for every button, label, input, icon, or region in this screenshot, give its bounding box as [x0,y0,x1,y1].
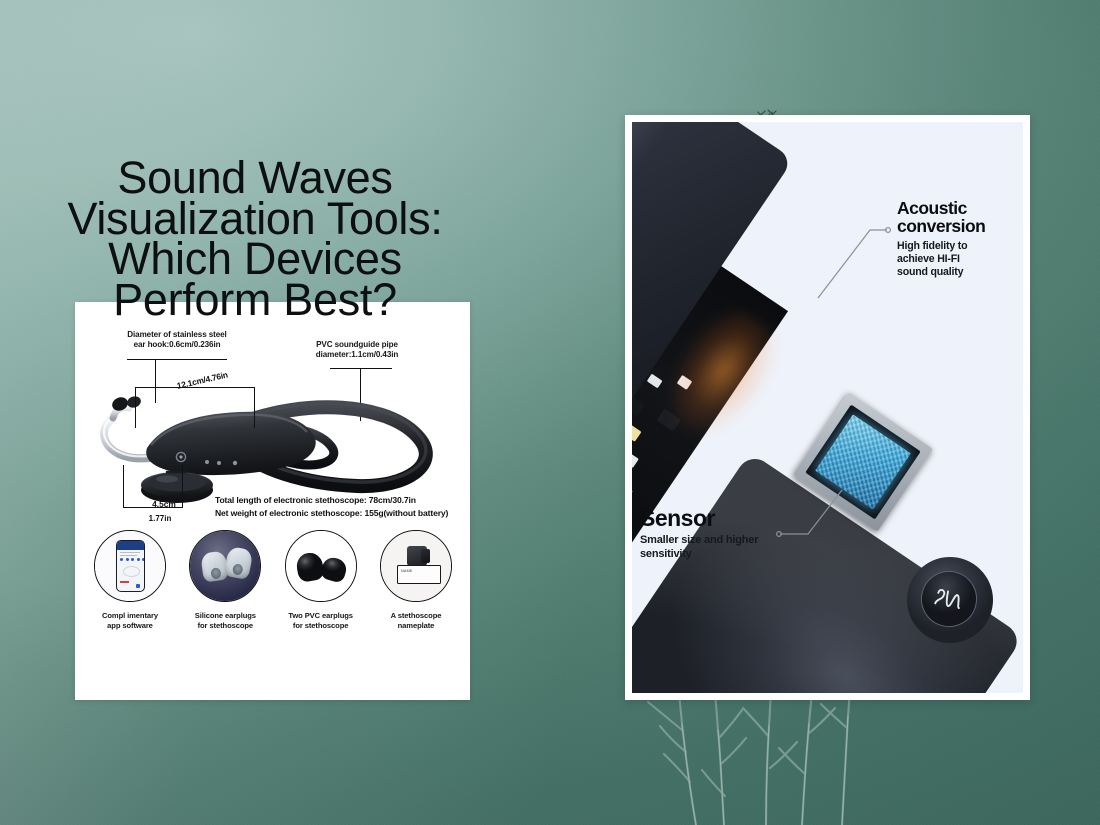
annotation-ear-hook-diameter: Diameter of stainless steel ear hook:0.6… [97,330,257,350]
callout-subtitle: High fidelity to achieve HI-FI sound qua… [897,240,1015,279]
device-internals-photo: Acoustic conversion High fidelity to ach… [632,122,1023,693]
device-internals-photo-card: Acoustic conversion High fidelity to ach… [625,115,1030,700]
accessory-caption: Two PVC earplugs for stethoscope [288,611,353,632]
accessories-row: Compl imentary app software Silicone ear… [87,530,459,632]
sensor-die [815,414,911,510]
accessory-caption: A stethoscope nameplate [391,611,442,632]
spec-totals: Total length of electronic stethoscope: … [215,494,465,521]
product-spec-image: Diameter of stainless steel ear hook:0.6… [75,302,470,700]
callout-acoustic-conversion: Acoustic conversion High fidelity to ach… [897,200,1015,278]
dimension-label-chestpiece-cm: 4.5cm [135,499,193,509]
nameplate-text: NAME [401,569,413,573]
accessory-thumbnail-app [94,530,166,602]
accessory-silicone-earplugs: Silicone earplugs for stethoscope [182,530,268,632]
accessory-thumbnail-nameplate: NAME [380,530,452,602]
callout-title: Sensor [640,507,790,530]
annotation-soundguide-pipe: PVC soundguide pipe diameter:1.1cm/0.43i… [287,340,427,360]
accessory-thumbnail-silicone [189,530,261,602]
callout-subtitle: Smaller size and higher sensitivity [640,534,790,561]
accessory-thumbnail-pvc [285,530,357,602]
accessory-pvc-earplugs: Two PVC earplugs for stethoscope [278,530,364,632]
leader-line-ear-hook-horizontal [127,359,227,360]
total-length-text: Total length of electronic stethoscope: … [215,494,465,507]
slide-title: Sound Waves Visualization Tools: Which D… [55,158,455,320]
callout-title: Acoustic conversion [897,200,1015,236]
accessory-app-software: Compl imentary app software [87,530,173,632]
net-weight-text: Net weight of electronic stethoscope: 15… [215,507,465,520]
presentation-slide: Sound Waves Visualization Tools: Which D… [0,0,1100,825]
power-wave-icon [932,584,967,613]
dimension-label-chestpiece-in: 1.77in [131,514,189,523]
dimension-bracket-body-length [135,387,255,428]
accessory-nameplate: NAME A stethoscope nameplate [373,530,459,632]
photo-watermark: DL [1010,683,1018,689]
accessory-caption: Compl imentary app software [102,611,158,632]
callout-sensor: Sensor Smaller size and higher sensitivi… [640,507,790,561]
accessory-caption: Silicone earplugs for stethoscope [195,611,256,632]
smartphone-icon [116,540,145,592]
